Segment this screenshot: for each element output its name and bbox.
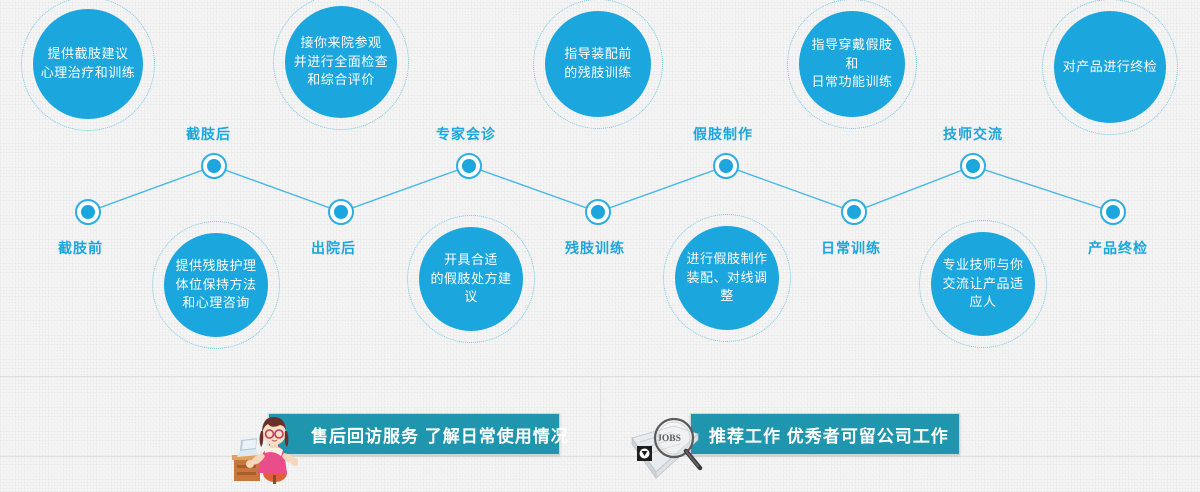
- timeline-node-technician-comm[interactable]: [960, 153, 986, 179]
- bubble-wearing-guidance[interactable]: 指导穿戴假肢和 日常功能训练: [799, 11, 905, 117]
- bubble-text: 指导穿戴假肢和 日常功能训练: [799, 36, 905, 93]
- after-sales-banner[interactable]: 售后回访服务 了解日常使用情况: [268, 413, 560, 455]
- timeline-node-prosthesis-making[interactable]: [713, 153, 739, 179]
- bubble-text: 指导装配前 的残肢训练: [558, 45, 638, 83]
- node-label-technician-comm: 技师交流: [943, 124, 1003, 144]
- bubble-residual-care[interactable]: 提供残肢护理 体位保持方法 和心理咨询: [164, 233, 268, 337]
- divider-bottom: [0, 456, 1200, 457]
- bubble-manufacture[interactable]: 进行假肢制作 装配、对线调整: [675, 226, 779, 330]
- node-label-pre-amputation: 截肢前: [58, 238, 103, 258]
- node-label-final-inspection: 产品终检: [1088, 238, 1148, 258]
- timeline-node-post-discharge[interactable]: [328, 199, 354, 225]
- node-label-residual-training: 残肢训练: [565, 238, 625, 258]
- timeline-node-pre-amputation[interactable]: [75, 199, 101, 225]
- bubble-final-check[interactable]: 对产品进行终检: [1054, 11, 1166, 123]
- node-label-post-discharge: 出院后: [311, 238, 356, 258]
- job-referral-banner[interactable]: 推荐工作 优秀者可留公司工作: [690, 413, 960, 455]
- bubble-technician-adapt[interactable]: 专业技师与你 交流让产品适应人: [931, 232, 1035, 336]
- timeline-node-final-inspection[interactable]: [1100, 199, 1126, 225]
- infographic-stage: 提供截肢建议 心理治疗和训练 接你来院参观 并进行全面检查 和综合评价 指导装配…: [0, 0, 1200, 492]
- bubble-pre-fitting[interactable]: 指导装配前 的残肢训练: [545, 11, 651, 117]
- timeline-node-residual-training[interactable]: [585, 199, 611, 225]
- bubble-text: 接你来院参观 并进行全面检查 和综合评价: [288, 34, 395, 91]
- bubble-text: 对产品进行终检: [1057, 58, 1164, 77]
- node-label-prosthesis-making: 假肢制作: [693, 124, 753, 144]
- node-label-post-amputation: 截肢后: [186, 124, 231, 144]
- node-label-daily-training: 日常训练: [821, 238, 881, 258]
- bubble-text: 进行假肢制作 装配、对线调整: [675, 250, 779, 307]
- job-referral-banner-title: 推荐工作 优秀者可留公司工作: [709, 422, 949, 447]
- node-label-expert-consult: 专家会诊: [436, 124, 496, 144]
- after-sales-banner-title: 售后回访服务 了解日常使用情况: [311, 422, 569, 447]
- bubble-text: 专业技师与你 交流让产品适应人: [931, 256, 1035, 313]
- jobs-newspaper-magnifier-illustration: JOBS: [628, 418, 706, 480]
- divider-center: [600, 376, 601, 456]
- bubble-amputation-advice[interactable]: 提供截肢建议 心理治疗和训练: [33, 9, 143, 119]
- bubble-text: 开具合适 的假肢处方建议: [419, 251, 523, 308]
- woman-at-desk-illustration: [232, 415, 298, 485]
- timeline-node-daily-training[interactable]: [841, 199, 867, 225]
- bubble-hospital-visit[interactable]: 接你来院参观 并进行全面检查 和综合评价: [285, 6, 397, 118]
- bubble-text: 提供截肢建议 心理治疗和训练: [35, 45, 142, 83]
- bubble-prescription[interactable]: 开具合适 的假肢处方建议: [419, 227, 523, 331]
- bubble-text: 提供残肢护理 体位保持方法 和心理咨询: [169, 257, 262, 314]
- timeline-node-expert-consult[interactable]: [456, 153, 482, 179]
- timeline-node-post-amputation[interactable]: [201, 153, 227, 179]
